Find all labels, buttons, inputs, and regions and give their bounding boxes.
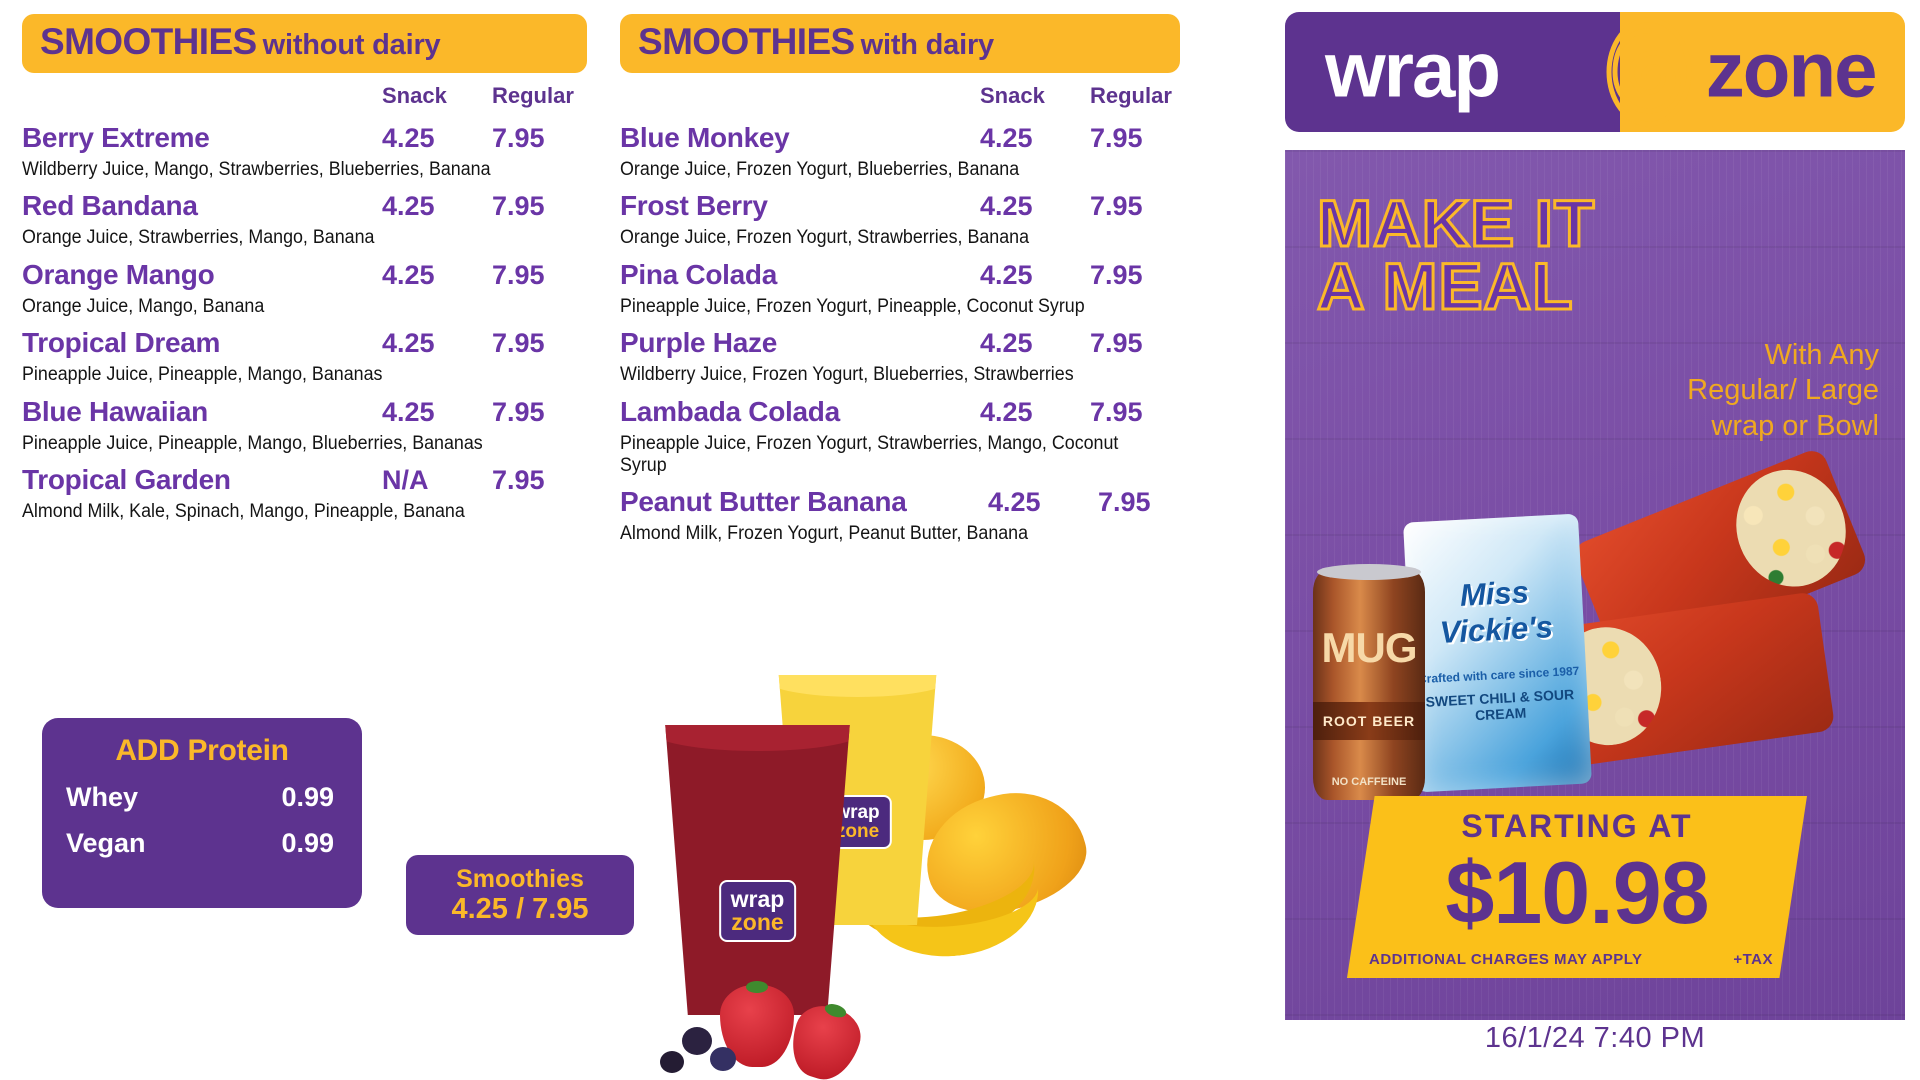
protein-label: Vegan <box>66 828 146 859</box>
item-price-regular: 7.95 <box>492 465 545 496</box>
protein-price: 0.99 <box>281 828 334 859</box>
item-name: Red Bandana <box>22 190 198 222</box>
cup-logo-zone: zone <box>731 911 785 934</box>
menu-item[interactable]: Peanut Butter Banana 4.25 7.95 Almond Mi… <box>620 486 1180 545</box>
menu-board: SMOOTHIESwithout dairy Snack Regular Ber… <box>0 0 1920 1080</box>
item-price-snack: 4.25 <box>988 487 1041 518</box>
menu-item[interactable]: Pina Colada 4.25 7.95 Pineapple Juice, F… <box>620 259 1180 318</box>
blueberry-icon <box>710 1047 736 1071</box>
item-description: Almond Milk, Kale, Spinach, Mango, Pinea… <box>22 501 553 523</box>
item-price-regular: 7.95 <box>492 191 545 222</box>
menu-item[interactable]: Lambada Colada 4.25 7.95 Pineapple Juice… <box>620 396 1180 478</box>
item-description: Pineapple Juice, Pineapple, Mango, Banan… <box>22 364 553 386</box>
item-name: Orange Mango <box>22 259 214 291</box>
item-price-snack: 4.25 <box>980 328 1033 359</box>
promo-headline-line1: MAKE IT <box>1317 192 1595 255</box>
chips-sub-label: Crafted with care since 1987 <box>1411 663 1586 686</box>
menu-item[interactable]: Purple Haze 4.25 7.95 Wildberry Juice, F… <box>620 327 1180 386</box>
item-name: Tropical Garden <box>22 464 231 496</box>
promo-headline-line2: A MEAL <box>1317 255 1595 318</box>
chips-flavor-label: SWEET CHILI & SOUR CREAM <box>1412 685 1588 726</box>
price-column-headers: Snack Regular <box>22 83 587 113</box>
chips-bag-icon: Miss Vickie's Crafted with care since 19… <box>1403 514 1592 793</box>
timestamp: 16/1/24 7:40 PM <box>1285 1022 1905 1055</box>
item-price-regular: 7.95 <box>492 397 545 428</box>
item-price-snack: 4.25 <box>980 397 1033 428</box>
item-name: Frost Berry <box>620 190 768 222</box>
item-price-snack: 4.25 <box>980 260 1033 291</box>
item-name: Tropical Dream <box>22 327 220 359</box>
item-description: Pineapple Juice, Frozen Yogurt, Pineappl… <box>620 296 1146 318</box>
item-description: Almond Milk, Frozen Yogurt, Peanut Butte… <box>620 523 1146 545</box>
promo-panel: wrap zone MAKE IT A MEAL With Any Regula… <box>1285 12 1905 1072</box>
promo-subtext-line1: With Any <box>1687 338 1879 373</box>
protein-row-whey[interactable]: Whey 0.99 <box>66 782 338 828</box>
item-description: Orange Juice, Strawberries, Mango, Banan… <box>22 227 553 249</box>
item-price-regular: 7.95 <box>492 260 545 291</box>
item-name: Pina Colada <box>620 259 777 291</box>
can-top <box>1317 564 1421 580</box>
item-price-snack: 4.25 <box>382 191 435 222</box>
blueberry-icon <box>682 1027 712 1055</box>
add-protein-title: ADD Protein <box>66 734 338 768</box>
item-description: Pineapple Juice, Pineapple, Mango, Blueb… <box>22 433 553 455</box>
cup-logo: wrap zone <box>719 880 797 942</box>
starting-at-label: STARTING AT <box>1347 808 1807 845</box>
category-title-light: without dairy <box>263 29 441 61</box>
item-price-regular: 7.95 <box>1098 487 1151 518</box>
price-column-headers: Snack Regular <box>620 83 1180 113</box>
item-name: Purple Haze <box>620 327 777 359</box>
item-name: Lambada Colada <box>620 396 840 428</box>
make-it-a-meal-promo: MAKE IT A MEAL With Any Regular/ Large w… <box>1285 150 1905 1020</box>
meal-product-photo: Miss Vickie's Crafted with care since 19… <box>1285 400 1905 840</box>
protein-row-vegan[interactable]: Vegan 0.99 <box>66 828 338 874</box>
smoothie-top <box>767 663 948 697</box>
item-price-snack: 4.25 <box>382 328 435 359</box>
header-snack: Snack <box>980 83 1045 109</box>
fine-print-left: ADDITIONAL CHARGES MAY APPLY <box>1369 951 1643 968</box>
header-snack: Snack <box>382 83 447 109</box>
item-description: Orange Juice, Mango, Banana <box>22 296 553 318</box>
can-bottom-label: NO CAFFEINE <box>1313 776 1425 788</box>
header-regular: Regular <box>492 83 574 109</box>
spiral-icon <box>1603 17 1695 127</box>
item-price-regular: 7.95 <box>492 123 545 154</box>
menu-item[interactable]: Tropical Dream 4.25 7.95 Pineapple Juice… <box>22 327 587 386</box>
wrap-zone-logo: wrap zone <box>1285 12 1905 132</box>
category-title-strong: SMOOTHIES <box>40 21 257 62</box>
menu-item[interactable]: Red Bandana 4.25 7.95 Orange Juice, Stra… <box>22 190 587 249</box>
smoothies-column-without-dairy: SMOOTHIESwithout dairy Snack Regular Ber… <box>22 14 587 523</box>
item-description: Wildberry Juice, Frozen Yogurt, Blueberr… <box>620 364 1146 386</box>
menu-item[interactable]: Blue Hawaiian 4.25 7.95 Pineapple Juice,… <box>22 396 587 455</box>
menu-item[interactable]: Blue Monkey 4.25 7.95 Orange Juice, Froz… <box>620 122 1180 181</box>
item-price-snack: 4.25 <box>382 260 435 291</box>
item-price-regular: 7.95 <box>1090 328 1143 359</box>
category-banner-without-dairy: SMOOTHIESwithout dairy <box>22 14 587 73</box>
menu-item[interactable]: Orange Mango 4.25 7.95 Orange Juice, Man… <box>22 259 587 318</box>
starting-price-badge: STARTING AT $10.98 ADDITIONAL CHARGES MA… <box>1347 796 1807 978</box>
item-price-regular: 7.95 <box>1090 123 1143 154</box>
item-name: Peanut Butter Banana <box>620 486 907 518</box>
item-name: Blue Hawaiian <box>22 396 208 428</box>
protein-price: 0.99 <box>281 782 334 813</box>
item-price-snack: 4.25 <box>980 123 1033 154</box>
fine-print-right: +TAX <box>1733 951 1773 968</box>
item-price-snack: 4.25 <box>382 123 435 154</box>
item-price-regular: 7.95 <box>492 328 545 359</box>
item-price-regular: 7.95 <box>1090 260 1143 291</box>
item-description: Orange Juice, Frozen Yogurt, Strawberrie… <box>620 227 1146 249</box>
logo-wrap-text: wrap <box>1325 25 1499 116</box>
header-regular: Regular <box>1090 83 1172 109</box>
protein-label: Whey <box>66 782 138 813</box>
menu-item[interactable]: Berry Extreme 4.25 7.95 Wildberry Juice,… <box>22 122 587 181</box>
chips-brand-label: Miss Vickie's <box>1406 572 1585 653</box>
wrap-filling <box>1719 453 1863 603</box>
item-price-regular: 7.95 <box>1090 191 1143 222</box>
item-price-regular: 7.95 <box>1090 397 1143 428</box>
category-banner-with-dairy: SMOOTHIESwith dairy <box>620 14 1180 73</box>
category-title-light: with dairy <box>861 29 994 61</box>
menu-item[interactable]: Frost Berry 4.25 7.95 Orange Juice, Froz… <box>620 190 1180 249</box>
root-beer-can-icon: MUG ROOT BEER NO CAFFEINE <box>1313 570 1425 800</box>
category-title-strong: SMOOTHIES <box>638 21 855 62</box>
can-brand-label: MUG <box>1313 624 1425 672</box>
smoothie-photo: wrap zone wrap zone <box>560 655 1200 1080</box>
starting-price-value: $10.98 <box>1347 842 1807 944</box>
strawberry-leaf-icon <box>823 1002 848 1020</box>
smoothies-column-with-dairy: SMOOTHIESwith dairy Snack Regular Blue M… <box>620 14 1180 546</box>
item-description: Pineapple Juice, Frozen Yogurt, Strawber… <box>620 433 1146 478</box>
logo-zone-text: zone <box>1706 25 1876 116</box>
red-smoothie-cup: wrap zone <box>655 725 860 1015</box>
item-price-snack: N/A <box>382 465 429 496</box>
promo-headline: MAKE IT A MEAL <box>1317 192 1595 317</box>
item-description: Orange Juice, Frozen Yogurt, Blueberries… <box>620 159 1146 181</box>
menu-item[interactable]: Tropical Garden N/A 7.95 Almond Milk, Ka… <box>22 464 587 523</box>
strawberry-leaf-icon <box>746 981 768 993</box>
logo-left-half: wrap <box>1285 12 1620 132</box>
blueberry-icon <box>660 1051 684 1073</box>
item-price-snack: 4.25 <box>980 191 1033 222</box>
item-description: Wildberry Juice, Mango, Strawberries, Bl… <box>22 159 553 181</box>
item-name: Berry Extreme <box>22 122 210 154</box>
add-protein-card[interactable]: ADD Protein Whey 0.99 Vegan 0.99 <box>42 718 362 908</box>
item-name: Blue Monkey <box>620 122 789 154</box>
item-price-snack: 4.25 <box>382 397 435 428</box>
can-band-label: ROOT BEER <box>1313 702 1425 740</box>
